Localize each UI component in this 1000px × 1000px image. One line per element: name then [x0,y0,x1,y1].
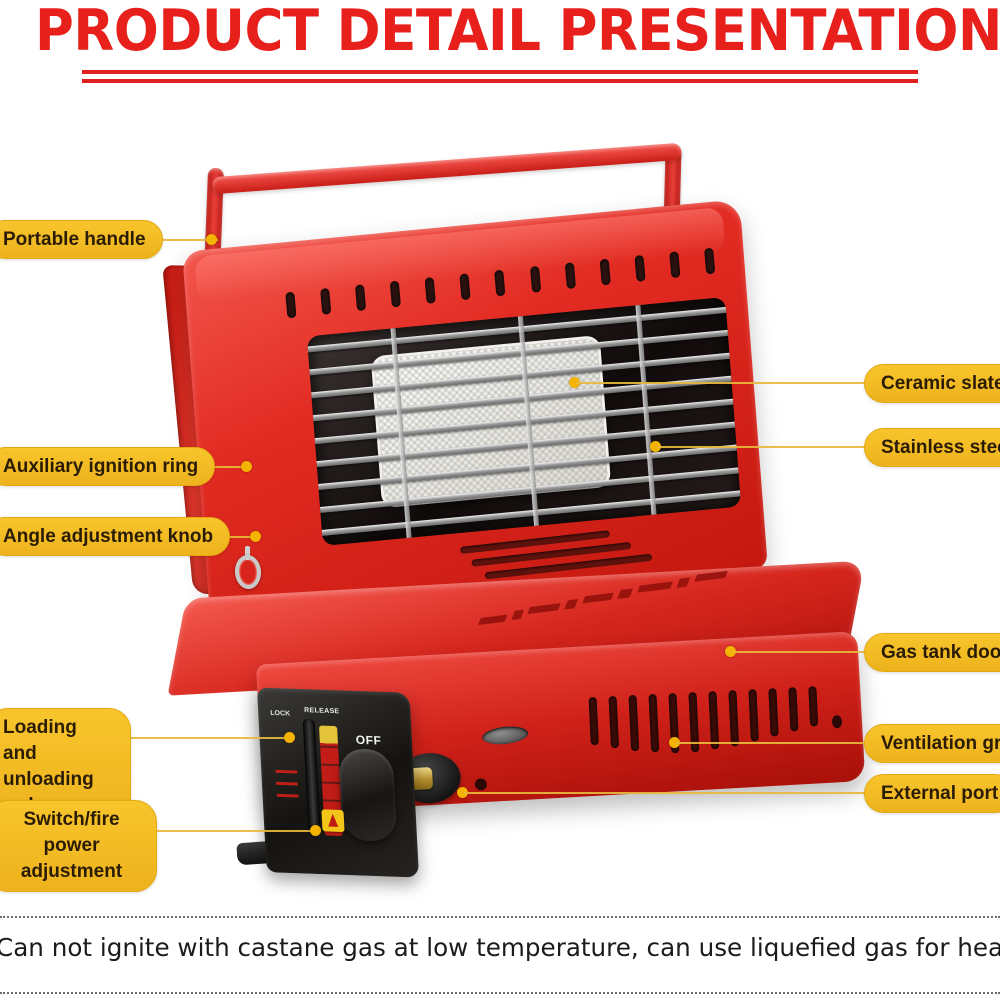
callout-external-port[interactable]: External port [864,774,1000,813]
leader-dot-loading-and-unloading-rod [284,732,295,743]
product-photo: ♨ ⚠ [0,100,1000,900]
title-divider-top [82,70,918,74]
port-pin-hole [475,778,488,791]
leader-dot-angle-adjustment-knob [250,531,261,542]
label-mark [676,577,690,587]
panel-release-label: RELEASE [304,707,340,715]
callout-ceramic-slate[interactable]: Ceramic slate [864,364,1000,403]
ventilation-slot [748,689,759,741]
label-mark [694,571,728,582]
grille-bar [309,420,742,467]
label-mark [478,615,507,625]
ventilation-slot [628,695,639,751]
vent-slot [460,273,471,300]
leader-line-gas-tank-door [732,651,866,653]
label-mark [582,593,614,604]
callout-switch-fire-power-adjustment[interactable]: Switch/firepower adjustment [0,800,157,892]
page-title: PRODUCT DETAIL PRESENTATION [35,0,965,62]
footer-divider-top [0,916,1000,918]
scale-tick [321,763,339,766]
callout-angle-adjustment-knob[interactable]: Angle adjustment knob [0,517,230,556]
vent-slot [285,292,296,319]
panel-lock-label: LOCK [270,710,290,718]
label-mark [564,599,578,609]
graduation-mark [276,782,298,786]
title-divider-bottom [82,79,918,83]
switch-fire-power-knob[interactable] [338,748,397,842]
flame-indicator-icon [321,809,344,832]
burner-recess [307,297,741,546]
ventilation-slot [708,691,719,749]
vent-slot [355,284,366,311]
leader-line-ceramic-slate [576,382,866,384]
ventilation-grille [589,685,843,785]
loading-unloading-rod-slot[interactable] [303,719,321,835]
callout-auxiliary-ignition-ring[interactable]: Auxiliary ignition ring [0,447,215,486]
grille-bar [312,466,741,513]
graduation-mark [275,770,297,774]
ventilation-slot [788,687,798,731]
vent-slot [669,251,680,278]
control-panel: LOCK RELEASE OFF [257,687,419,877]
leader-line-ventilation-grille [676,742,866,744]
ventilation-slot [648,694,659,752]
leader-dot-portable-handle [206,234,217,245]
leader-dot-auxiliary-ignition-ring [241,461,252,472]
vent-slot [425,277,436,304]
scale-tick [322,781,340,784]
vent-slot [599,259,610,286]
vent-slot [495,270,506,297]
label-mark [637,581,673,592]
callout-portable-handle[interactable]: Portable handle [0,220,163,259]
grille-bar [310,443,741,490]
label-mark [511,610,524,620]
ventilation-slot [609,696,620,748]
callout-ventilation-grille[interactable]: Ventilation grille [864,724,1000,763]
ventilation-slot [768,688,778,736]
ventilation-hole [832,715,843,728]
scale-tick [323,799,341,802]
vent-slot [564,262,575,289]
footer-note-text: Can not ignite with castane gas at low t… [0,931,991,965]
tank-cap-recess [481,724,529,746]
vent-slot [634,255,645,282]
scale-tick [320,745,338,748]
vent-slot [390,281,401,308]
portable-handle-bar [212,143,682,194]
flame-glyph-icon [328,814,339,827]
leader-line-stainless-steel [657,446,866,448]
label-mark [617,588,633,599]
vent-slot [530,266,541,293]
stainless-steel-grille [307,297,741,546]
ventilation-slot [808,686,818,726]
leader-line-switch-fire-power-adjustment [156,830,316,832]
footer-note: Can not ignite with castane gas at low t… [0,900,1000,1000]
leader-dot-switch-fire-power-adjustment [310,825,321,836]
leader-line-external-port [464,792,866,794]
callout-stainless-steel[interactable]: Stainless steel [864,428,1000,467]
leader-line-loading-and-unloading-rod [130,737,290,739]
heater-head [182,199,768,621]
ventilation-slot [589,697,599,745]
ventilation-slot [728,690,739,746]
footer-divider-bottom [0,992,1000,994]
heater-illustration: ♨ ⚠ [0,100,1000,900]
vent-slot [320,288,331,315]
label-mark [527,603,561,614]
title-bar: PRODUCT DETAIL PRESENTATION [0,0,1000,100]
callout-gas-tank-door[interactable]: Gas tank door [864,633,1000,672]
graduation-mark [277,794,299,798]
panel-off-label: OFF [355,733,381,748]
